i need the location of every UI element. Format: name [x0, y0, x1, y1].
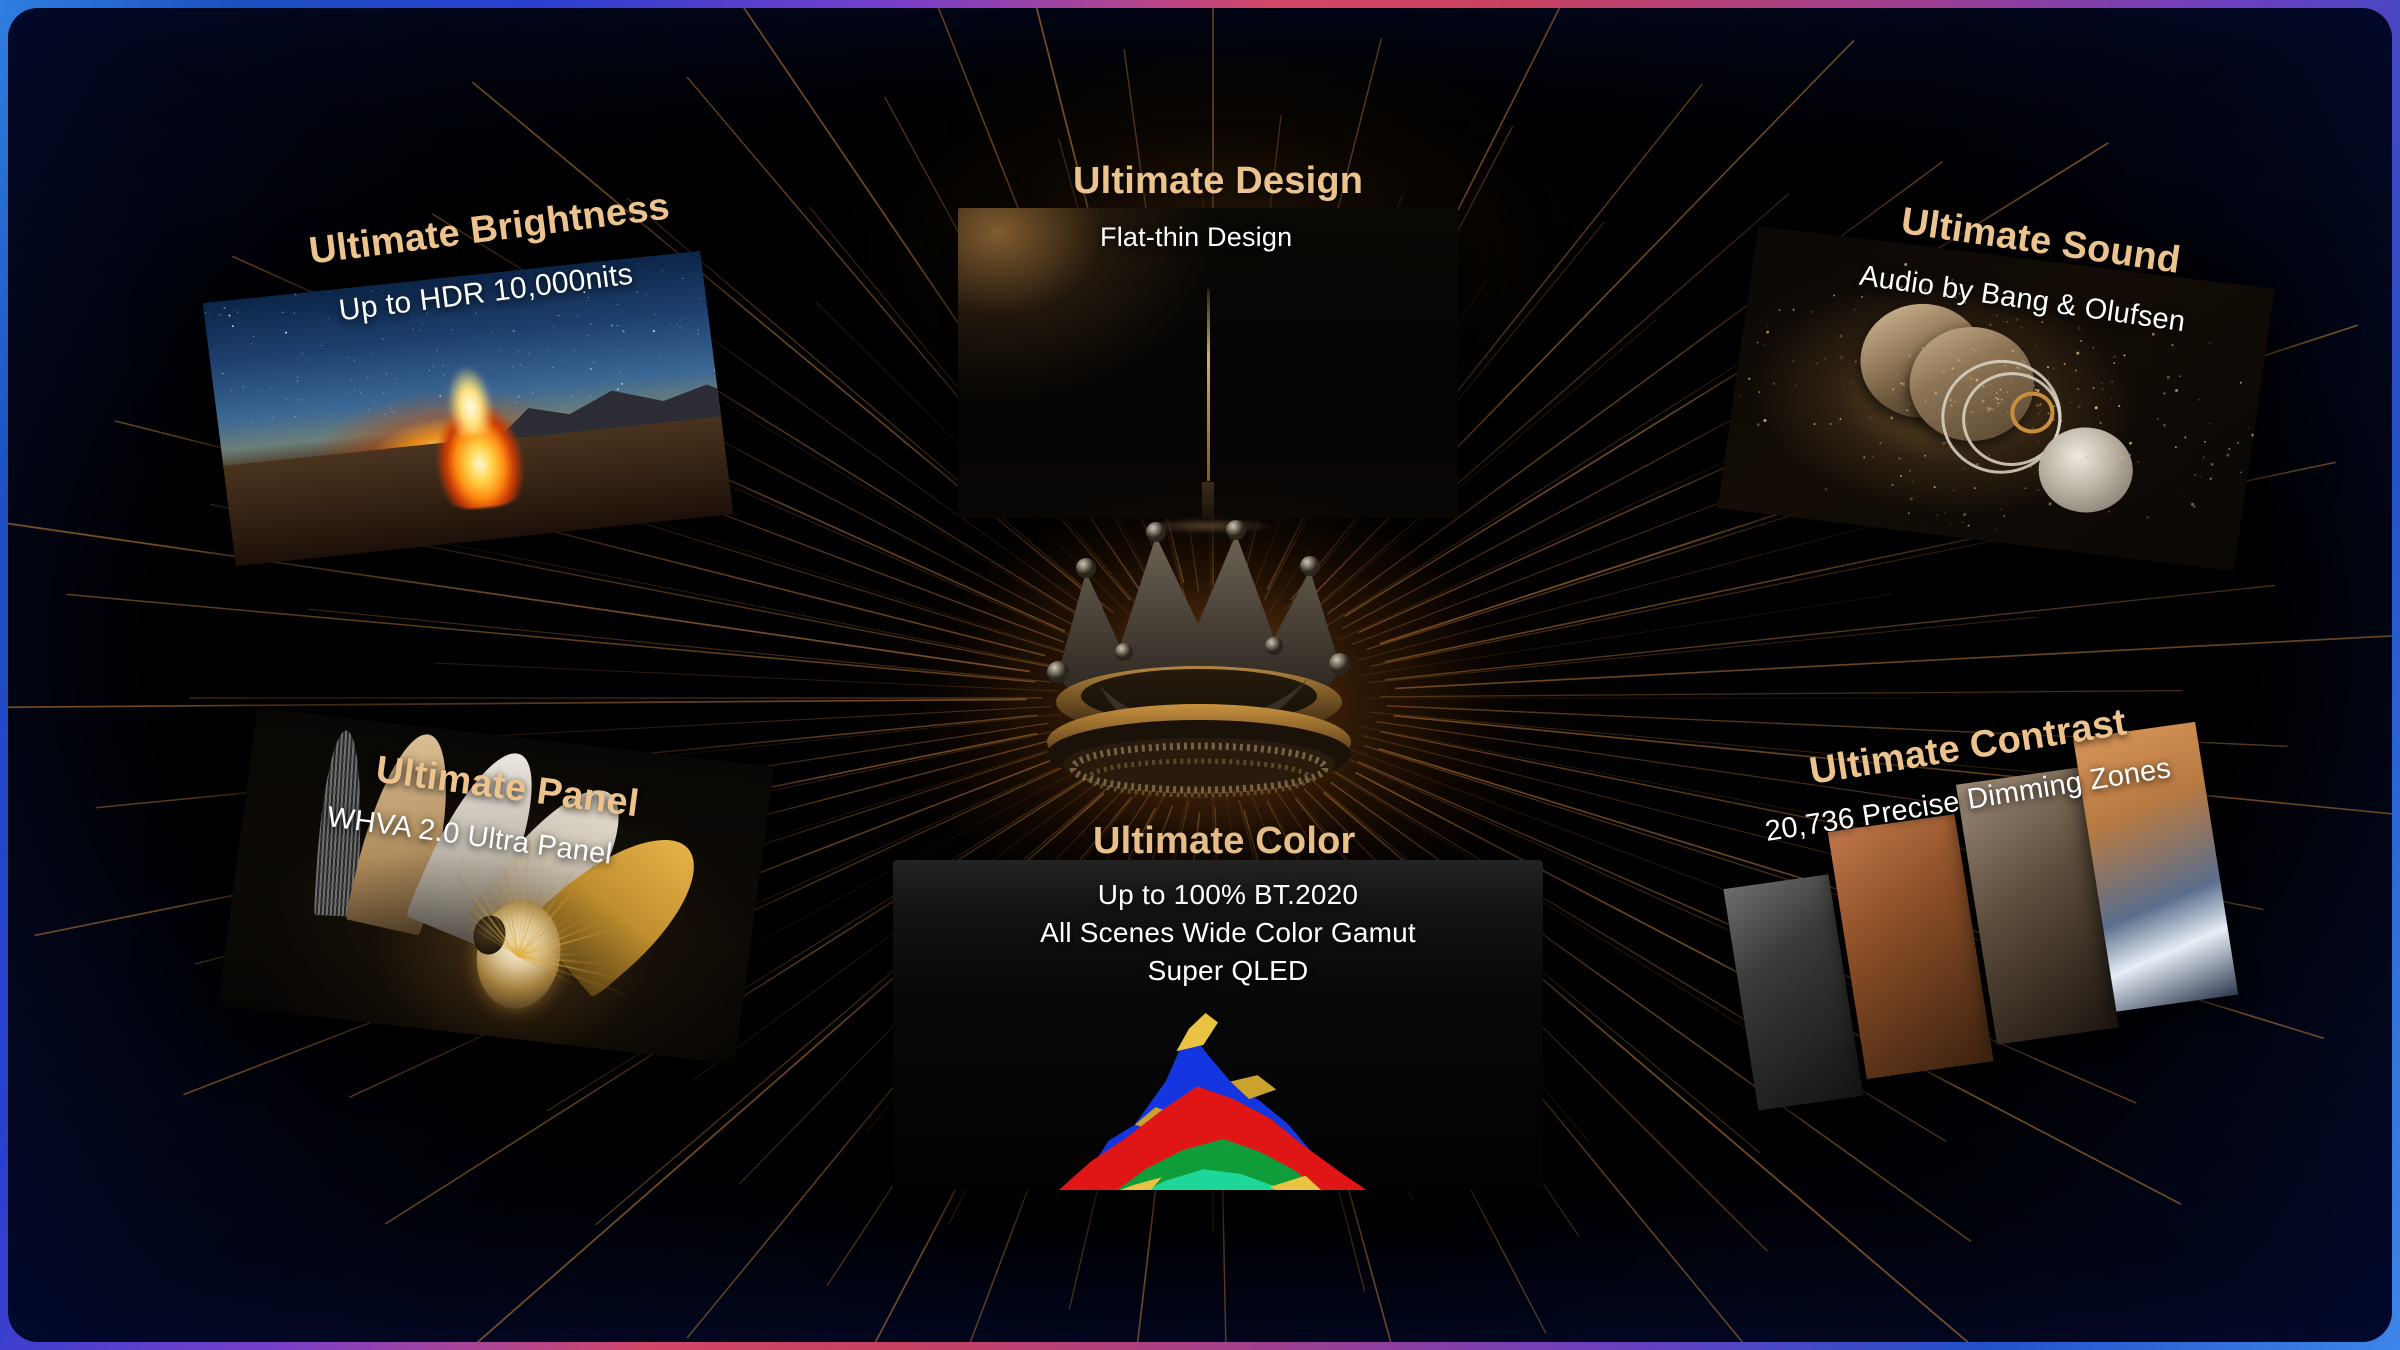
sand-particle: [2121, 455, 2124, 458]
sand-particle: [2011, 377, 2012, 378]
design-title: Ultimate Design: [1073, 160, 1363, 203]
sand-particle: [2029, 465, 2031, 467]
sand-particle: [2021, 326, 2023, 328]
sand-particle: [2138, 461, 2140, 463]
sand-particle: [1970, 378, 1972, 380]
sand-particle: [1974, 487, 1976, 489]
star: [419, 330, 420, 331]
star: [671, 323, 672, 324]
star: [383, 339, 384, 340]
sand-particle: [2210, 477, 2212, 479]
sand-particle: [1989, 324, 1991, 326]
sand-particle: [1963, 467, 1965, 469]
sand-particle: [1973, 349, 1976, 352]
star: [452, 389, 453, 390]
star: [329, 338, 330, 339]
sand-particle: [2036, 346, 2037, 347]
star: [286, 399, 287, 400]
star: [693, 321, 694, 322]
sand-particle: [1891, 484, 1893, 486]
star: [518, 352, 519, 353]
sand-particle: [2074, 370, 2076, 372]
star: [282, 312, 283, 313]
sand-particle: [1967, 524, 1969, 526]
star: [271, 387, 272, 388]
star: [491, 369, 492, 370]
star: [680, 327, 681, 328]
star: [637, 264, 638, 265]
sand-particle: [2237, 442, 2239, 444]
star: [415, 387, 416, 388]
sand-particle: [2192, 505, 2195, 508]
sand-particle: [2001, 361, 2002, 362]
star: [386, 374, 387, 375]
sand-particle: [1933, 486, 1935, 488]
star: [236, 395, 237, 396]
star: [390, 408, 391, 409]
sand-particle: [1953, 489, 1955, 491]
sand-particle: [2006, 320, 2008, 322]
star: [253, 336, 254, 337]
sand-particle: [2251, 433, 2254, 436]
sand-particle: [2118, 405, 2120, 407]
sand-particle: [1995, 315, 1997, 317]
sand-particle: [1767, 326, 1768, 327]
sand-particle: [1910, 498, 1913, 501]
sand-particle: [2113, 355, 2116, 358]
sand-particle: [2239, 382, 2241, 384]
sand-particle: [1839, 334, 1842, 337]
star: [297, 377, 298, 378]
star: [429, 370, 430, 371]
sand-particle: [2077, 388, 2079, 390]
star: [577, 315, 578, 316]
sand-particle: [2077, 405, 2080, 408]
sand-particle: [1830, 423, 1832, 425]
star: [590, 368, 592, 370]
crown-icon: [1028, 506, 1398, 806]
star: [321, 340, 322, 341]
sand-particle: [2174, 423, 2175, 424]
sand-particle: [1920, 326, 1921, 327]
star: [611, 315, 612, 316]
sand-particle: [1854, 309, 1855, 310]
sand-particle: [2049, 421, 2051, 423]
star: [329, 292, 330, 293]
sand-particle: [1823, 358, 1825, 360]
star: [621, 383, 623, 385]
sand-particle: [1855, 361, 1857, 363]
star: [231, 325, 233, 327]
color-subtitle: Up to 100% BT.2020 All Scenes Wide Color…: [1018, 876, 1438, 990]
sand-particle: [1953, 401, 1955, 403]
sand-particle: [2047, 412, 2049, 414]
sand-particle: [2003, 515, 2005, 517]
sand-particle: [2048, 503, 2051, 506]
sand-particle: [1872, 457, 1873, 458]
sand-particle: [2129, 453, 2131, 455]
sand-particle: [1863, 456, 1865, 458]
color-title: Ultimate Color: [1093, 820, 1356, 863]
sand-particle: [2069, 473, 2070, 474]
sand-particle: [2204, 440, 2206, 442]
star: [367, 377, 368, 378]
star: [395, 379, 396, 380]
sand-particle: [2070, 445, 2071, 446]
sand-particle: [1824, 487, 1827, 490]
sand-particle: [1900, 475, 1902, 477]
star: [497, 330, 498, 331]
star: [383, 392, 384, 393]
sand-particle: [1951, 374, 1952, 375]
sand-particle: [1765, 345, 1766, 346]
sand-particle: [2129, 442, 2132, 445]
sand-particle: [1748, 377, 1750, 379]
star: [413, 328, 414, 329]
sand-particle: [1909, 419, 1910, 420]
star: [349, 357, 350, 358]
star: [205, 312, 206, 313]
star: [553, 367, 554, 368]
star: [617, 304, 618, 305]
star: [274, 372, 275, 373]
sand-particle: [1911, 480, 1913, 482]
sand-particle: [1792, 360, 1794, 362]
sand-particle: [1950, 328, 1952, 330]
sand-particle: [1865, 407, 1866, 408]
sand-particle: [1999, 389, 2001, 391]
neon-frame: Ultimate Brightness Up to HDR 10,000nits…: [0, 0, 2400, 1350]
sand-particle: [2003, 321, 2004, 322]
sand-particle: [2077, 351, 2080, 354]
star: [422, 323, 423, 324]
sand-particle: [1839, 418, 1841, 420]
sand-particle: [1816, 363, 1817, 364]
sand-particle: [1995, 392, 1997, 394]
sand-particle: [2200, 476, 2201, 477]
sand-particle: [2099, 422, 2101, 424]
star: [308, 359, 309, 360]
sound-screen: [1718, 226, 2275, 571]
star: [209, 314, 210, 315]
sand-particle: [2001, 509, 2003, 511]
sand-particle: [1983, 407, 1984, 408]
star: [616, 351, 617, 352]
sand-particle: [1950, 524, 1951, 525]
sand-particle: [1924, 455, 1926, 457]
sand-particle: [2037, 489, 2039, 491]
sand-particle: [2041, 321, 2043, 323]
sand-particle: [1757, 423, 1760, 426]
star: [587, 335, 588, 336]
star: [677, 324, 678, 325]
star: [309, 383, 310, 384]
star: [714, 370, 715, 371]
star: [327, 318, 328, 319]
sand-particle: [1962, 521, 1963, 522]
color-gamut-mountain: [1010, 1005, 1426, 1190]
star: [251, 420, 252, 421]
sand-particle: [1936, 515, 1937, 516]
star: [635, 388, 636, 389]
sand-particle: [2171, 344, 2173, 346]
star: [512, 367, 513, 368]
feature-panel-sound[interactable]: [1718, 226, 2275, 571]
sand-particle: [2163, 424, 2166, 427]
star: [442, 365, 443, 366]
star: [476, 339, 477, 340]
sand-particle: [2111, 380, 2114, 383]
star: [616, 388, 618, 390]
sand-particle: [1909, 469, 1911, 471]
sand-particle: [1783, 314, 1784, 315]
sand-particle: [2012, 388, 2014, 390]
star: [562, 360, 563, 361]
sand-particle: [2102, 382, 2103, 383]
star: [553, 325, 554, 326]
sand-particle: [2226, 453, 2229, 456]
sand-particle: [1792, 309, 1794, 311]
sand-particle: [1951, 367, 1953, 369]
sand-particle: [2078, 327, 2081, 330]
scene-stage: Ultimate Brightness Up to HDR 10,000nits…: [8, 8, 2392, 1342]
sand-particle: [2063, 363, 2065, 365]
sand-particle: [2052, 367, 2053, 368]
color-subtitle-line-1: Up to 100% BT.2020: [1018, 876, 1438, 914]
star: [528, 353, 529, 354]
star: [432, 366, 433, 367]
sand-particle: [1795, 384, 1797, 386]
star: [384, 414, 385, 415]
star: [237, 311, 238, 312]
star: [519, 364, 520, 365]
sand-particle: [1772, 383, 1774, 385]
star: [394, 382, 395, 383]
star: [660, 356, 661, 357]
sand-particle: [1778, 309, 1780, 311]
sand-particle: [2094, 406, 2097, 409]
sand-particle: [1890, 416, 1893, 419]
star: [219, 314, 220, 315]
star: [436, 350, 437, 351]
star: [353, 389, 354, 390]
sand-particle: [1766, 331, 1769, 334]
star: [428, 330, 429, 331]
design-subtitle: Flat-thin Design: [1100, 222, 1292, 253]
sand-particle: [2027, 405, 2028, 406]
star: [328, 416, 329, 417]
sand-particle: [2033, 385, 2035, 387]
sand-particle: [1879, 442, 1881, 444]
star: [259, 391, 260, 392]
sand-particle: [2108, 511, 2110, 513]
star: [662, 270, 663, 271]
star: [603, 316, 604, 317]
sand-particle: [1810, 311, 1812, 313]
star: [475, 312, 476, 313]
star: [571, 396, 572, 397]
star: [302, 353, 303, 354]
feature-panel-panel[interactable]: [218, 708, 774, 1064]
star: [439, 394, 441, 396]
star: [271, 418, 272, 419]
sand-particle: [2147, 516, 2149, 518]
star: [460, 386, 461, 387]
sand-particle: [2039, 411, 2040, 412]
sand-particle: [2166, 375, 2169, 378]
sand-particle: [1833, 294, 1835, 296]
color-subtitle-line-3: Super QLED: [1018, 952, 1438, 990]
star: [646, 295, 647, 296]
star: [532, 392, 533, 393]
sand-particle: [2113, 362, 2115, 364]
sand-particle: [1990, 390, 1991, 391]
star: [574, 350, 575, 351]
star: [697, 334, 698, 335]
star: [683, 277, 684, 278]
sand-particle: [1983, 356, 1985, 358]
sand-particle: [2000, 398, 2002, 400]
sand-particle: [1989, 471, 1991, 473]
sand-particle: [1856, 375, 1857, 376]
star: [451, 329, 452, 330]
sand-particle: [2240, 471, 2242, 473]
star: [285, 331, 287, 333]
feature-panel-design[interactable]: [958, 208, 1458, 518]
sand-particle: [1994, 529, 1996, 531]
sand-particle: [2209, 423, 2210, 424]
star: [593, 361, 594, 362]
sand-particle: [2175, 446, 2177, 448]
sand-particle: [1997, 402, 1999, 404]
star: [622, 330, 624, 332]
sand-particle: [1987, 410, 1989, 412]
sand-particle: [2185, 436, 2187, 438]
sand-particle: [2124, 354, 2126, 356]
sand-particle: [2024, 487, 2026, 489]
sand-particle: [2047, 366, 2049, 368]
star: [654, 323, 655, 324]
star: [512, 330, 514, 332]
star: [391, 407, 392, 408]
star: [492, 332, 493, 333]
sand-particle: [1853, 383, 1854, 384]
star: [620, 371, 621, 372]
design-screen: [958, 208, 1458, 518]
sand-particle: [2111, 398, 2112, 399]
star: [294, 313, 295, 314]
sand-particle: [1971, 403, 1972, 404]
star: [301, 400, 302, 401]
sand-particle: [2179, 375, 2181, 377]
star: [635, 382, 636, 383]
sand-particle: [2197, 399, 2199, 401]
sand-particle: [2047, 449, 2049, 451]
star: [354, 359, 355, 360]
sand-particle: [2209, 342, 2210, 343]
star: [273, 352, 274, 353]
star: [251, 343, 252, 344]
star: [558, 315, 559, 316]
sand-particle: [1923, 521, 1924, 522]
sand-particle: [1908, 403, 1910, 405]
sand-particle: [2080, 340, 2082, 342]
star: [578, 390, 579, 391]
star: [617, 325, 618, 326]
sand-particle: [1861, 296, 1863, 298]
sand-particle: [2203, 458, 2204, 459]
campfire-spark: [443, 364, 496, 437]
sand-particle: [2072, 472, 2074, 474]
sand-particle: [1997, 398, 1999, 400]
star: [224, 307, 226, 309]
sand-particle: [1942, 442, 1945, 445]
sand-particle: [1944, 512, 1945, 513]
sand-particle: [2016, 318, 2019, 321]
star: [679, 319, 680, 320]
sand-particle: [2093, 387, 2095, 389]
star: [393, 412, 394, 413]
star: [664, 355, 665, 356]
sand-particle: [1756, 342, 1758, 344]
sand-particle: [1763, 418, 1766, 421]
star: [588, 310, 589, 311]
sand-particle: [2070, 402, 2071, 403]
star: [591, 323, 592, 324]
sand-particle: [2086, 456, 2088, 458]
star: [229, 314, 231, 316]
sand-particle: [1840, 356, 1843, 359]
sand-particle: [2249, 428, 2250, 429]
sand-particle: [1869, 416, 1871, 418]
star: [698, 329, 699, 330]
star: [360, 393, 361, 394]
star: [425, 341, 426, 342]
star: [220, 424, 221, 425]
sand-particle: [1898, 457, 1900, 459]
star: [371, 355, 372, 356]
star: [654, 314, 655, 315]
sand-particle: [1986, 407, 1988, 409]
star: [321, 345, 322, 346]
sand-particle: [1953, 383, 1955, 385]
sand-particle: [1963, 513, 1966, 516]
star: [295, 416, 296, 417]
sand-particle: [2157, 418, 2159, 420]
sand-particle: [2228, 447, 2230, 449]
sand-particle: [1984, 482, 1985, 483]
sand-particle: [1902, 382, 1905, 385]
star: [297, 381, 298, 382]
sand-particle: [2230, 391, 2231, 392]
star: [636, 291, 637, 292]
sand-particle: [2092, 346, 2094, 348]
star: [239, 323, 240, 324]
star: [605, 381, 606, 382]
star: [351, 380, 352, 381]
sand-particle: [1740, 395, 1741, 396]
star: [515, 402, 516, 403]
star: [346, 395, 347, 396]
star: [611, 324, 613, 326]
star: [653, 330, 655, 332]
sand-particle: [2007, 390, 2008, 391]
star: [294, 294, 296, 296]
thin-profile-edge: [1207, 289, 1210, 481]
star: [518, 395, 520, 397]
sand-particle: [1907, 512, 1909, 514]
sand-particle: [2211, 462, 2214, 465]
